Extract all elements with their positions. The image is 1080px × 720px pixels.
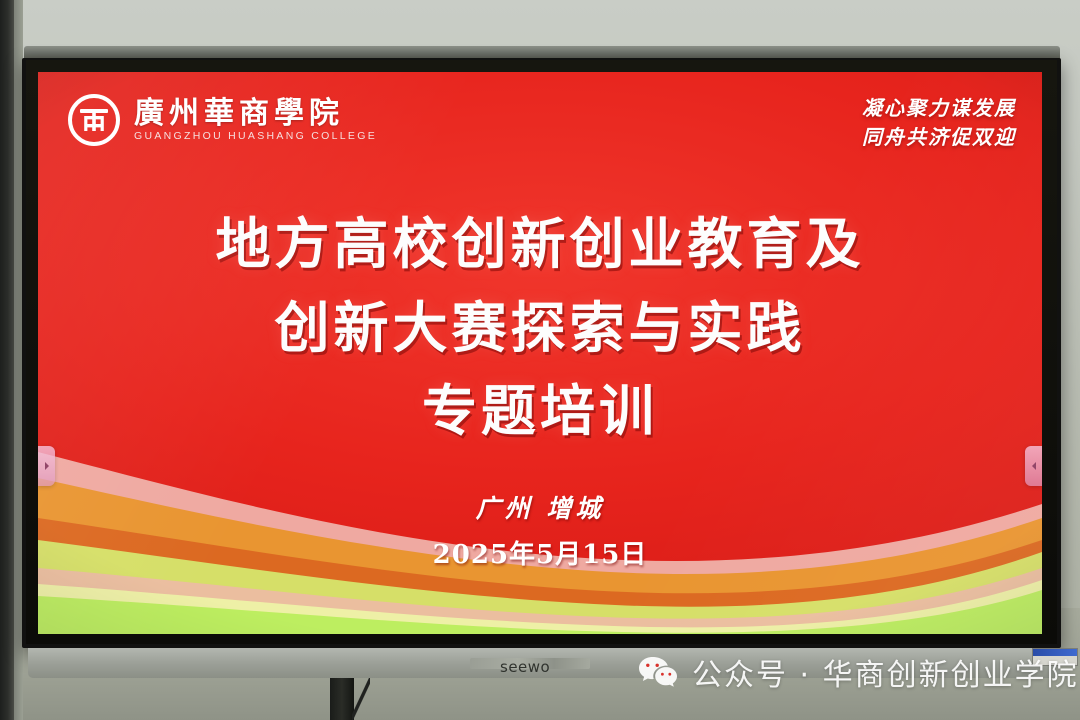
event-date: 2025年5月15日 (38, 534, 1042, 571)
screenshot-stage: 廣州華商學院 GUANGZHOU HUASHANG COLLEGE 凝心聚力谋发… (0, 0, 1080, 720)
wechat-watermark: 公众号 · 华商创新创业学院 (638, 650, 1079, 694)
wechat-icon (638, 655, 678, 689)
wechat-watermark-text: 公众号 · 华商创新创业学院 (692, 650, 1079, 694)
display-cable (352, 678, 370, 720)
slogan-block: 凝心聚力谋发展 同舟共济促双迎 (862, 94, 1016, 152)
college-name-cn: 廣州華商學院 (134, 99, 377, 129)
title-line-1: 地方高校创新创业教育及 (38, 202, 1042, 286)
side-panel-trigger-right[interactable] (1025, 446, 1042, 486)
event-location: 广州 增城 (38, 490, 1042, 528)
slogan-line-2: 同舟共济促双迎 (862, 123, 1016, 152)
college-logo: 廣州華商學院 GUANGZHOU HUASHANG COLLEGE (66, 92, 377, 148)
slide-meta: 广州 增城 2025年5月15日 (38, 490, 1042, 571)
display-stand-neck (330, 678, 354, 720)
chevron-left-icon (1030, 461, 1038, 471)
huashang-seal-emblem-icon (66, 92, 122, 148)
slide-title: 地方高校创新创业教育及 创新大赛探索与实践 专题培训 (38, 202, 1042, 453)
slogan-line-1: 凝心聚力谋发展 (862, 94, 1016, 123)
side-panel-trigger-left[interactable] (38, 446, 55, 486)
title-line-3: 专题培训 (38, 369, 1042, 453)
display-screen[interactable]: 廣州華商學院 GUANGZHOU HUASHANG COLLEGE 凝心聚力谋发… (38, 72, 1042, 634)
college-logo-text: 廣州華商學院 GUANGZHOU HUASHANG COLLEGE (134, 99, 377, 142)
wall-edge-dark-strip (0, 0, 14, 720)
chevron-right-icon (43, 461, 51, 471)
title-line-2: 创新大赛探索与实践 (38, 286, 1042, 370)
college-name-en: GUANGZHOU HUASHANG COLLEGE (134, 131, 377, 142)
